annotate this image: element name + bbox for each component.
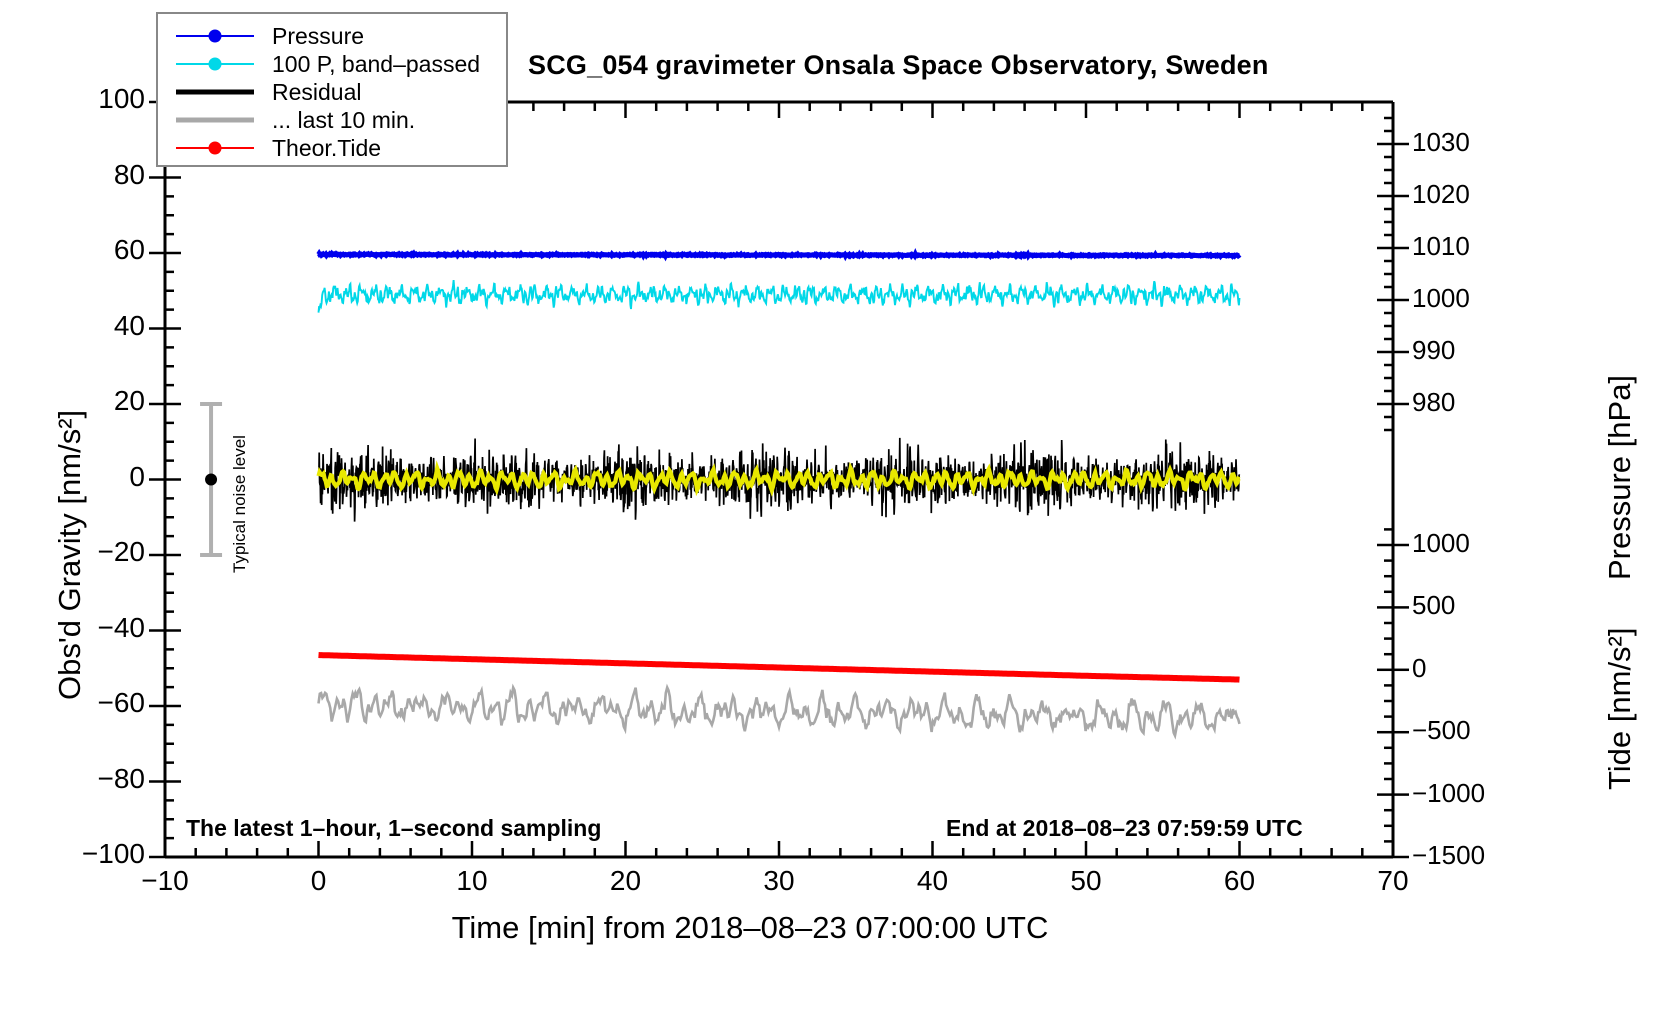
y-axis-tide-tick-label: −1000 [1412, 778, 1485, 809]
legend: Pressure100 P, band–passedResidual... la… [156, 12, 508, 167]
legend-swatch [172, 109, 258, 131]
x-axis-tick-label: 70 [1348, 865, 1438, 897]
annotation-end-time: End at 2018–08–23 07:59:59 UTC [946, 815, 1303, 842]
legend-item-label: Pressure [272, 23, 364, 50]
legend-item[interactable]: Residual [158, 78, 506, 106]
legend-swatch [172, 25, 258, 47]
y-axis-tide-tick-label: 1000 [1412, 528, 1470, 559]
x-axis-tick-label: −10 [120, 865, 210, 897]
plot-figure: SCG_054 gravimeter Onsala Space Observat… [0, 0, 1660, 1020]
legend-swatch [172, 53, 258, 75]
x-axis-tick-label: 30 [734, 865, 824, 897]
y-axis-tide-title: Tide [nm/s²] [1602, 628, 1638, 791]
y-axis-pressure-tick-label: 990 [1412, 335, 1455, 366]
series-band-passed [319, 280, 1240, 313]
y-axis-pressure-tick-label: 1010 [1412, 231, 1470, 262]
y-axis-tide-tick-label: 0 [1412, 653, 1426, 684]
y-axis-tide-tick-label: 500 [1412, 590, 1455, 621]
legend-item-label: 100 P, band–passed [272, 51, 480, 78]
legend-item-label: Theor.Tide [272, 135, 381, 162]
y-axis-pressure-tick-label: 1020 [1412, 179, 1470, 210]
typical-noise-level-label: Typical noise level [230, 435, 250, 573]
y-axis-pressure-title: Pressure [hPa] [1602, 375, 1638, 580]
typical-noise-level-errorbar [200, 404, 222, 555]
series-pressure [319, 254, 1240, 257]
legend-swatch [172, 81, 258, 103]
x-axis-tick-label: 0 [274, 865, 364, 897]
y-axis-left-tick-label: −80 [60, 763, 145, 795]
x-axis-tick-label: 50 [1041, 865, 1131, 897]
x-axis-tick-label: 60 [1195, 865, 1285, 897]
x-axis-tick-label: 10 [427, 865, 517, 897]
y-axis-left-title: Obs'd Gravity [nm/s²] [52, 410, 88, 700]
y-axis-pressure-tick-label: 1000 [1412, 283, 1470, 314]
y-axis-left-ticks [149, 102, 181, 857]
legend-swatch [172, 137, 258, 159]
series-last-10-min [319, 688, 1240, 736]
x-axis-ticks [165, 841, 1393, 857]
y-axis-left-tick-label: 100 [60, 83, 145, 115]
annotation-sampling: The latest 1–hour, 1–second sampling [186, 815, 601, 842]
x-axis-title: Time [min] from 2018–08–23 07:00:00 UTC [0, 910, 1500, 946]
y-axis-left-tick-label: 40 [60, 310, 145, 342]
y-axis-left-tick-label: 60 [60, 234, 145, 266]
series-theor-tide [319, 655, 1240, 680]
legend-item[interactable]: ... last 10 min. [158, 106, 506, 134]
x-axis-tick-label: 40 [888, 865, 978, 897]
legend-item-label: ... last 10 min. [272, 107, 415, 134]
x-axis-tick-label: 20 [581, 865, 671, 897]
y-axis-tide-tick-label: −500 [1412, 715, 1471, 746]
legend-item[interactable]: Theor.Tide [158, 134, 506, 162]
y-axis-pressure-tick-label: 980 [1412, 387, 1455, 418]
legend-item[interactable]: 100 P, band–passed [158, 50, 506, 78]
y-axis-pressure-tick-label: 1030 [1412, 127, 1470, 158]
legend-item[interactable]: Pressure [158, 22, 506, 50]
y-axis-left-tick-label: 80 [60, 159, 145, 191]
legend-item-label: Residual [272, 79, 362, 106]
